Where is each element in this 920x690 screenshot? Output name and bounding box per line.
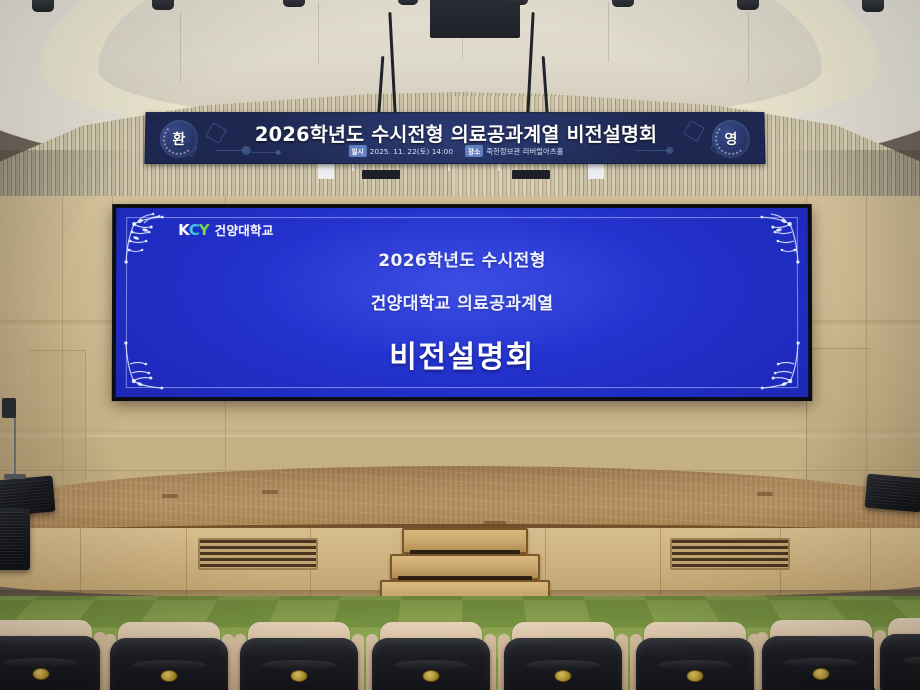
seat-backrest (372, 638, 490, 690)
banner-datetime: 일시 2025. 11. 22(토) 14:00 (349, 145, 454, 157)
university-logo: KCY 건양대학교 (178, 220, 274, 239)
ceiling-seam (180, 12, 181, 82)
ceiling-seam (608, 2, 609, 62)
seat-crest-icon (161, 670, 178, 682)
loudspeaker-icon (737, 0, 759, 10)
seat-backrest (636, 638, 754, 690)
rail-equipment-box (512, 170, 550, 179)
seat-backrest (110, 638, 228, 690)
wall-shadow-left (0, 196, 120, 491)
logo-letter-k: K (178, 221, 189, 239)
datetime-chip-label: 일시 (349, 145, 367, 157)
floor-speaker-left (0, 508, 30, 570)
seat-backrest (240, 638, 358, 690)
seat-highlight (132, 660, 206, 670)
seat-highlight (902, 656, 920, 666)
auditorium-scene: 환 영 2026학년도 수시전형 의료공과계열 비전설명회 일시 2025. 1… (0, 0, 920, 690)
datetime-value: 2025. 11. 22(토) 14:00 (370, 145, 453, 156)
loudspeaker-icon (32, 0, 54, 12)
seat-crest-icon (33, 668, 50, 680)
loudspeaker-icon (508, 0, 528, 5)
banner-place: 장소 죽헌정보관 리버럴아츠홀 (465, 145, 563, 157)
rail-panel (318, 164, 334, 179)
led-screen-frame: KCY 건양대학교 2026학년도 수시전형 건양대학교 의료공과계열 비전설명… (112, 204, 813, 401)
place-value: 죽헌정보관 리버럴아츠홀 (486, 145, 563, 156)
loudspeaker-icon (283, 0, 305, 7)
banner-subinfo: 일시 2025. 11. 22(토) 14:00 장소 죽헌정보관 리버럴아츠홀 (146, 145, 766, 157)
ceiling-seam (748, 12, 749, 82)
ceiling-seam (318, 2, 319, 64)
auditorium-seat[interactable] (762, 620, 880, 690)
auditorium-seat[interactable] (0, 620, 100, 690)
auditorium-seat[interactable] (110, 622, 228, 690)
university-name: 건양대학교 (215, 220, 274, 239)
speaker-grille (0, 512, 26, 566)
led-line-2: 건양대학교 의료공과계열 (116, 289, 808, 314)
seat-crest-icon (555, 670, 572, 682)
wall-band (0, 430, 920, 437)
loudspeaker-icon (612, 0, 634, 7)
seat-backrest (762, 636, 880, 690)
seat-highlight (394, 660, 468, 670)
stage-floor-marker (162, 494, 178, 498)
rail-panel (588, 164, 604, 179)
auditorium-seat[interactable] (372, 622, 490, 690)
ceiling-display-panel (430, 0, 520, 38)
seat-crest-icon (687, 670, 704, 682)
stage-monitor-speaker-right (865, 474, 920, 513)
auditorium-seat[interactable] (504, 622, 622, 690)
ky-logo-mark: KCY (178, 221, 209, 239)
loudspeaker-icon (862, 0, 884, 12)
mic-stand-base (4, 474, 26, 479)
led-text-block: 2026학년도 수시전형 건양대학교 의료공과계열 비전설명회 2025. 11… (116, 246, 808, 397)
logo-letter-o: C (189, 221, 199, 239)
rail-equipment-box (362, 170, 400, 179)
seat-backrest (504, 638, 622, 690)
seat-highlight (526, 660, 600, 670)
led-screen: KCY 건양대학교 2026학년도 수시전형 건양대학교 의료공과계열 비전설명… (116, 208, 808, 397)
seat-crest-icon (291, 670, 308, 682)
ventilation-grille-icon (198, 538, 318, 570)
seat-highlight (784, 658, 858, 668)
seat-highlight (658, 660, 732, 670)
led-line-3-headline: 비전설명회 (116, 332, 808, 376)
auditorium-seat[interactable] (880, 618, 920, 690)
seat-highlight (262, 660, 336, 670)
auditorium-seat[interactable] (240, 622, 358, 690)
loudspeaker-icon (398, 0, 418, 5)
auditorium-seat[interactable] (636, 622, 754, 690)
wall-outlet-panel (2, 398, 16, 418)
seat-crest-icon (813, 668, 830, 680)
seat-backrest (0, 636, 100, 690)
event-banner: 환 영 2026학년도 수시전형 의료공과계열 비전설명회 일시 2025. 1… (144, 112, 765, 164)
place-chip-label: 장소 (465, 145, 483, 157)
seat-backrest (880, 634, 920, 690)
speaker-grille (869, 478, 919, 508)
seat-crest-icon (423, 670, 440, 682)
banner-title: 2026학년도 수시전형 의료공과계열 비전설명회 (146, 118, 766, 147)
led-line-1: 2026학년도 수시전형 (116, 246, 808, 271)
seat-highlight (4, 658, 78, 668)
stage-floor-marker (757, 492, 773, 496)
ventilation-grille-icon (670, 538, 790, 570)
logo-letter-y: Y (199, 221, 209, 239)
loudspeaker-icon (152, 0, 174, 10)
stage-floor-marker (262, 490, 278, 494)
